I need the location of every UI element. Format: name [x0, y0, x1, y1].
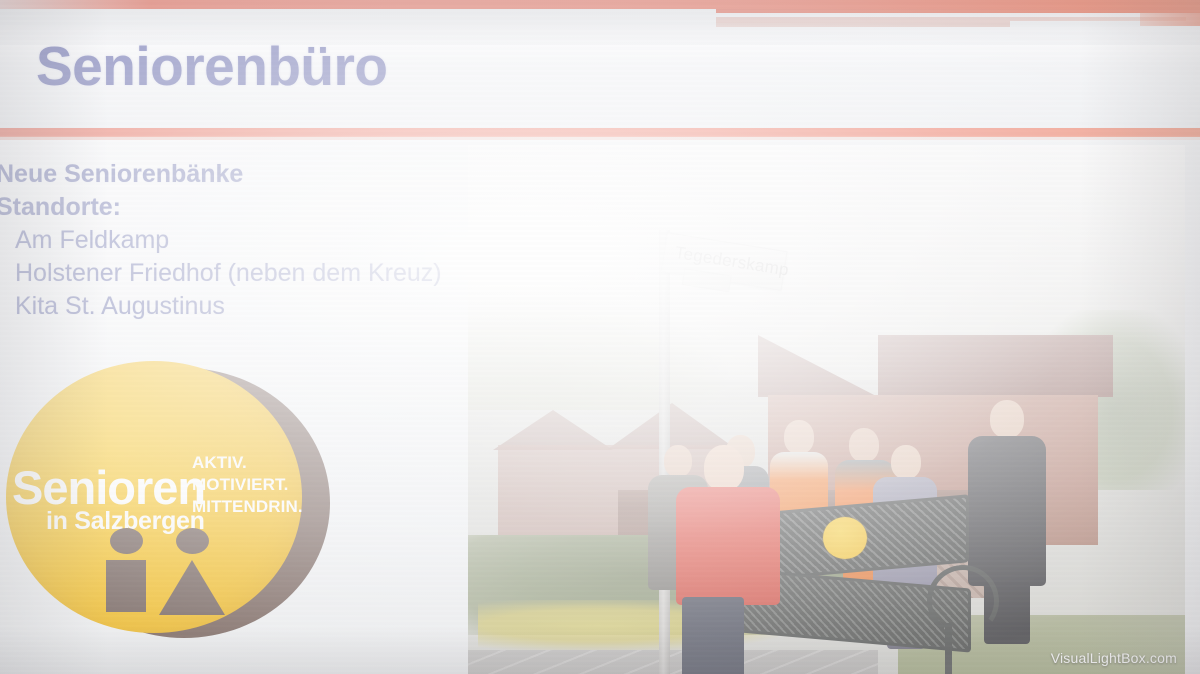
logo-claim: AKTIV. MOTIVIERT. MITTENDRIN.: [192, 452, 342, 518]
content-heading-2: Standorte:: [0, 191, 466, 224]
watermark: VisualLightBox.com: [1051, 650, 1177, 666]
presentation-slide: Seniorenbüro Neue Seniorenbänke Standort…: [0, 0, 1200, 674]
photo-main-house-roof: [878, 335, 1113, 397]
content-heading-1: Neue Seniorenbänke: [0, 158, 466, 191]
photo-seated-person-red-jacket: [676, 445, 786, 674]
content-text-block: Neue Seniorenbänke Standorte: Am Feldkam…: [0, 158, 466, 323]
senioren-salzbergen-logo: Senioren in Salzbergen AKTIV. MOTIVIERT.…: [2, 358, 342, 643]
logo-wordmark: Senioren: [12, 464, 207, 512]
pictogram-female-head: [176, 528, 209, 554]
photo-main-house-gable: [758, 335, 878, 397]
location-item-2: Holstener Friedhof (neben dem Kreuz): [0, 257, 466, 290]
slide-photo: Tegederskamp: [468, 145, 1185, 674]
location-item-1: Am Feldkamp: [0, 224, 466, 257]
logo-claim-1: AKTIV.: [192, 452, 342, 474]
page-title: Seniorenbüro: [36, 36, 388, 96]
photo-trees-background: [468, 295, 728, 410]
logo-pictograms: [102, 528, 252, 623]
logo-claim-2: MOTIVIERT.: [192, 474, 342, 496]
pictogram-male-head: [110, 528, 143, 554]
photo-bench-logo-sticker: [823, 517, 867, 559]
location-item-3: Kita St. Augustinus: [0, 290, 466, 323]
pictogram-female-body: [159, 560, 225, 615]
pictogram-male-body: [106, 560, 146, 612]
photo-bench-leg-right: [945, 623, 952, 674]
decor-stripe-6: [1140, 12, 1200, 26]
logo-claim-3: MITTENDRIN.: [192, 496, 342, 518]
title-divider-shadow: [0, 136, 1200, 140]
photo-far-house-roof-1: [493, 410, 613, 450]
